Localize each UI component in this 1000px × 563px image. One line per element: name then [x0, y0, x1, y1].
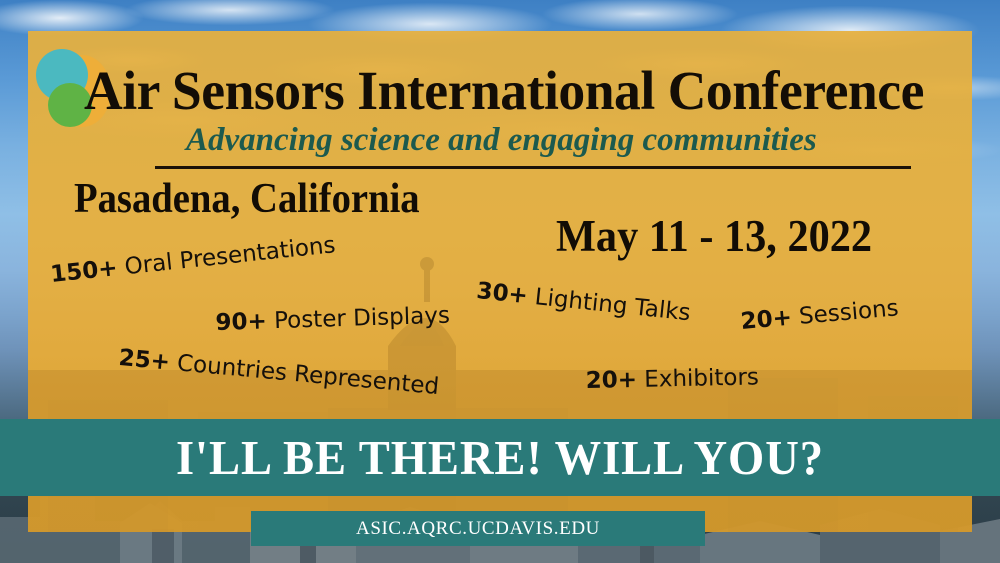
conference-location: Pasadena, California — [74, 176, 420, 222]
cta-text: I'LL BE THERE! WILL YOU? — [25, 430, 975, 486]
stat-number: 30+ — [475, 278, 529, 309]
conference-promo-poster: Air Sensors International Conference Adv… — [0, 0, 1000, 563]
stat-label: Poster Displays — [266, 303, 450, 335]
stat-number: 20+ — [585, 367, 637, 394]
conference-url[interactable]: ASIC.AQRC.UCDAVIS.EDU — [251, 518, 705, 540]
conference-dates: May 11 - 13, 2022 — [556, 211, 872, 261]
stat-number: 150+ — [49, 255, 119, 288]
stat-number: 20+ — [740, 305, 793, 335]
stat-label: Exhibitors — [637, 364, 759, 393]
conference-title: Air Sensors International Conference — [84, 62, 942, 120]
divider-rule — [155, 166, 911, 169]
stat-number: 90+ — [215, 308, 267, 336]
stat-number: 25+ — [118, 345, 171, 376]
conference-tagline: Advancing science and engaging communiti… — [186, 122, 946, 158]
stat-exhibitors: 20+ Exhibitors — [585, 364, 759, 395]
